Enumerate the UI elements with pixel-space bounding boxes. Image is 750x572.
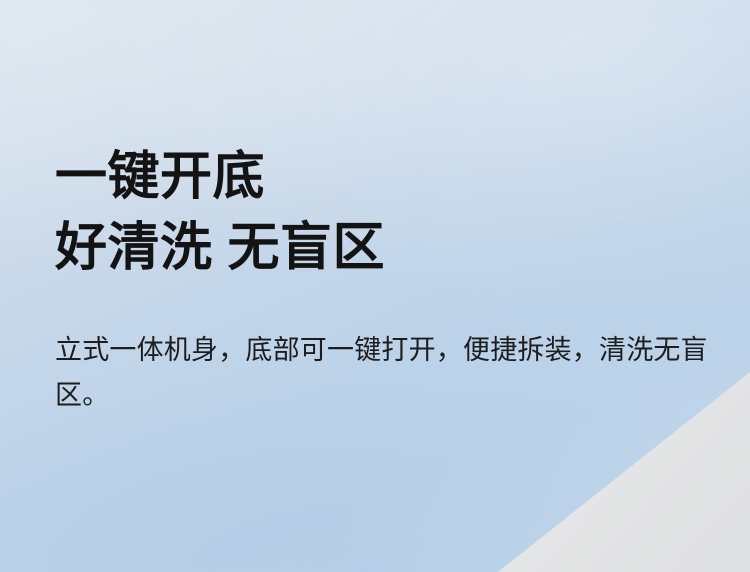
subcopy-text: 立式一体机身，底部可一键打开，便捷拆装，清洗无盲区。 [55,328,727,419]
headline-line-1: 一键开底 [55,142,385,213]
headline-line-2: 好清洗 无盲区 [55,213,385,284]
banner-content: 一键开底好清洗 无盲区 立式一体机身，底部可一键打开，便捷拆装，清洗无盲区。 [55,0,750,572]
headline: 一键开底好清洗 无盲区 [55,142,385,283]
product-feature-banner: 一键开底好清洗 无盲区 立式一体机身，底部可一键打开，便捷拆装，清洗无盲区。 [0,0,750,572]
